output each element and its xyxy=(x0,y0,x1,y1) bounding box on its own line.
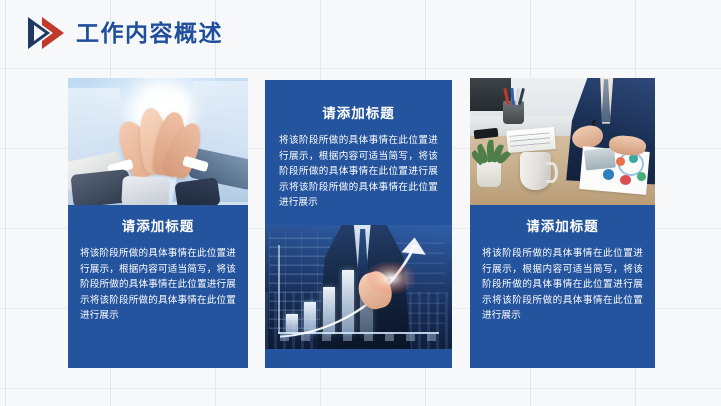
card-text-panel: 请添加标题 将该阶段所做的具体事情在此位置进行展示，根据内容可适当简写，将该阶段… xyxy=(265,80,452,225)
card-title: 请添加标题 xyxy=(482,219,643,235)
card-body-text: 将该阶段所做的具体事情在此位置进行展示，根据内容可适当简写，将该阶段所做的具体事… xyxy=(482,246,643,324)
photo-infographic-dot xyxy=(616,157,625,166)
businessman-desk-writing-photo xyxy=(470,78,655,205)
photo-light-flare xyxy=(366,262,415,294)
page-title: 工作内容概述 xyxy=(76,22,223,45)
card-title: 请添加标题 xyxy=(279,106,438,122)
photo-coffee-mug xyxy=(520,152,551,190)
double-chevron-logo-icon xyxy=(26,16,66,50)
photo-infographic-dot xyxy=(637,172,646,181)
card-text-panel: 请添加标题 将该阶段所做的具体事情在此位置进行展示，根据内容可适当简写，将该阶段… xyxy=(470,205,655,334)
businessman-growth-chart-photo xyxy=(265,225,452,349)
card-title: 请添加标题 xyxy=(80,219,236,235)
photo-calculator xyxy=(584,148,616,171)
slide-header: 工作内容概述 xyxy=(0,0,721,66)
photo-sleeve xyxy=(121,176,169,205)
photo-pen xyxy=(510,88,514,105)
photo-infographic-dot xyxy=(620,175,631,185)
content-card-left[interactable]: 请添加标题 将该阶段所做的具体事情在此位置进行展示，根据内容可适当简写，将该阶段… xyxy=(68,78,248,368)
teamwork-high-five-photo xyxy=(68,78,248,205)
content-card-center[interactable]: 请添加标题 将该阶段所做的具体事情在此位置进行展示，根据内容可适当简写，将该阶段… xyxy=(265,80,452,368)
card-body-text: 将该阶段所做的具体事情在此位置进行展示，根据内容可适当简写，将该阶段所做的具体事… xyxy=(80,246,236,324)
photo-chart-ticks xyxy=(280,334,437,341)
content-card-right[interactable]: 请添加标题 将该阶段所做的具体事情在此位置进行展示，根据内容可适当简写，将该阶段… xyxy=(470,78,655,368)
card-body-text: 将该阶段所做的具体事情在此位置进行展示，根据内容可适当简写，将该阶段所做的具体事… xyxy=(279,133,438,211)
photo-infographic-dot xyxy=(603,169,614,179)
photo-notebook xyxy=(506,127,556,153)
card-text-panel: 请添加标题 将该阶段所做的具体事情在此位置进行展示，根据内容可适当简写，将该阶段… xyxy=(68,205,248,334)
